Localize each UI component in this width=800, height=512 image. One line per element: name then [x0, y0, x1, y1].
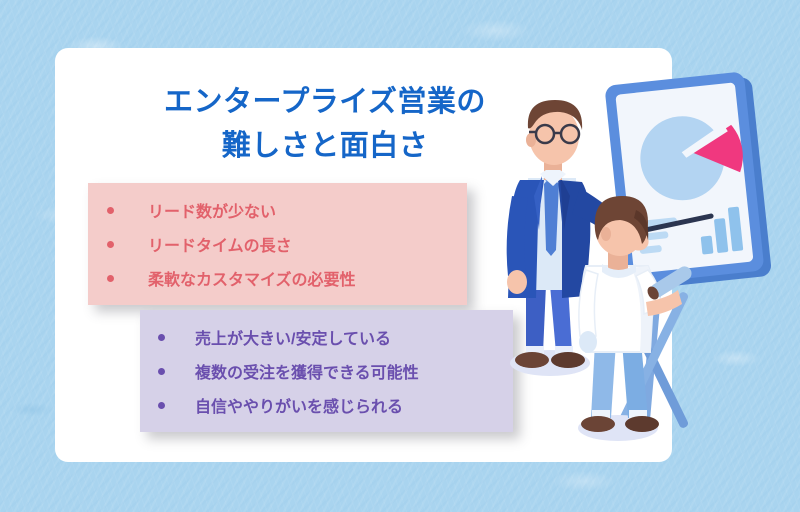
list-item-label: リードタイムの長さ [148, 232, 292, 256]
bullet-dot-icon [158, 402, 165, 409]
list-item: 自信ややりがいを感じられる [140, 388, 513, 422]
list-item-label: 柔軟なカスタマイズの必要性 [148, 266, 356, 290]
list-item: 売上が大きい/安定している [140, 320, 513, 354]
list-item-label: リード数が少ない [148, 198, 276, 222]
right-shoe [625, 416, 659, 432]
bullet-dot-icon [107, 241, 114, 248]
bullet-dot-icon [158, 334, 165, 341]
list-item-label: 複数の受注を獲得できる可能性 [195, 359, 419, 383]
bullet-dot-icon [107, 207, 114, 214]
poster-canvas: エンタープライズ営業の 難しさと面白さ リード数が少ない リードタイムの長さ 柔… [0, 0, 800, 512]
left-shoe [581, 416, 615, 432]
bullet-dot-icon [107, 275, 114, 282]
business-presentation-illustration [498, 70, 800, 470]
left-hand [507, 270, 527, 294]
purple-bullet-list: 売上が大きい/安定している 複数の受注を獲得できる可能性 自信ややりがいを感じら… [140, 310, 513, 432]
purple-bullet-box: 売上が大きい/安定している 複数の受注を獲得できる可能性 自信ややりがいを感じら… [140, 310, 513, 432]
list-item: リード数が少ない [88, 193, 467, 227]
left-hand [579, 331, 597, 353]
left-shoe [515, 352, 549, 368]
list-item: リードタイムの長さ [88, 227, 467, 261]
right-shoe [551, 352, 585, 368]
list-item-label: 自信ややりがいを感じられる [195, 393, 403, 417]
left-leg [591, 342, 616, 418]
list-item: 複数の受注を獲得できる可能性 [140, 354, 513, 388]
list-item: 柔軟なカスタマイズの必要性 [88, 261, 467, 295]
presentation-board-icon [604, 71, 772, 291]
list-item-label: 売上が大きい/安定している [195, 325, 391, 349]
pink-bullet-box: リード数が少ない リードタイムの長さ 柔軟なカスタマイズの必要性 [88, 183, 467, 305]
pink-bullet-list: リード数が少ない リードタイムの長さ 柔軟なカスタマイズの必要性 [88, 183, 467, 305]
bullet-dot-icon [158, 368, 165, 375]
